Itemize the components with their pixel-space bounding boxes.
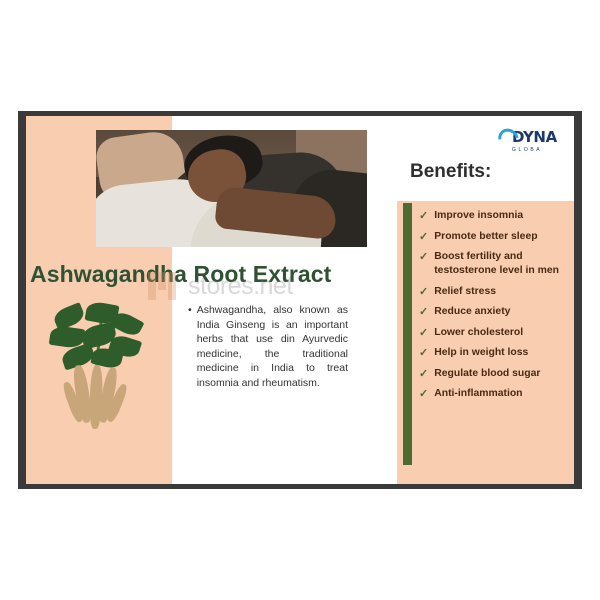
check-icon: ✓ (419, 230, 428, 244)
benefit-item: ✓ Boost fertility and testosterone level… (419, 250, 579, 278)
sleeping-woman-photo (96, 130, 367, 247)
description-text: Ashwagandha, also known as India Ginseng… (197, 303, 348, 390)
description-paragraph: • Ashwagandha, also known as India Ginse… (188, 303, 348, 390)
ashwagandha-plant-illustration (46, 303, 156, 455)
check-icon: ✓ (419, 305, 428, 319)
check-icon: ✓ (419, 346, 428, 360)
bullet-glyph: • (188, 303, 192, 318)
slide-bottom-border (18, 484, 582, 489)
check-icon: ✓ (419, 250, 428, 264)
benefits-heading: Benefits: (410, 161, 491, 183)
slide: Ashwagandha Root Extract • Ashwagandha, … (18, 111, 582, 489)
benefit-label: Regulate blood sugar (434, 367, 540, 381)
benefit-label: Improve insomnia (434, 209, 523, 223)
benefit-label: Boost fertility and testosterone level i… (434, 250, 579, 278)
benefit-item: ✓ Help in weight loss (419, 346, 579, 360)
check-icon: ✓ (419, 209, 428, 223)
check-icon: ✓ (419, 367, 428, 381)
benefits-list: ✓ Improve insomnia ✓ Promote better slee… (419, 209, 579, 408)
benefit-item: ✓ Lower cholesterol (419, 326, 579, 340)
benefit-item: ✓ Reduce anxiety (419, 305, 579, 319)
benefit-item: ✓ Anti-inflammation (419, 387, 579, 401)
benefit-label: Lower cholesterol (434, 326, 523, 340)
benefit-item: ✓ Promote better sleep (419, 230, 579, 244)
benefit-item: ✓ Relief stress (419, 285, 579, 299)
benefit-label: Help in weight loss (434, 346, 528, 360)
benefit-label: Relief stress (434, 285, 496, 299)
screenshot-canvas: Ashwagandha Root Extract • Ashwagandha, … (0, 0, 600, 600)
benefit-item: ✓ Regulate blood sugar (419, 367, 579, 381)
benefit-label: Reduce anxiety (434, 305, 510, 319)
check-icon: ✓ (419, 387, 428, 401)
benefit-label: Anti-inflammation (434, 387, 522, 401)
page-title: Ashwagandha Root Extract (30, 261, 390, 288)
benefits-accent-bar (403, 203, 412, 465)
brand-tagline: GLOBA (512, 147, 557, 153)
brand-logo: DYNA GLOBA (512, 128, 557, 153)
benefit-item: ✓ Improve insomnia (419, 209, 579, 223)
description-block: • Ashwagandha, also known as India Ginse… (188, 303, 348, 390)
benefit-label: Promote better sleep (434, 230, 537, 244)
check-icon: ✓ (419, 326, 428, 340)
check-icon: ✓ (419, 285, 428, 299)
slide-left-border (18, 111, 26, 489)
